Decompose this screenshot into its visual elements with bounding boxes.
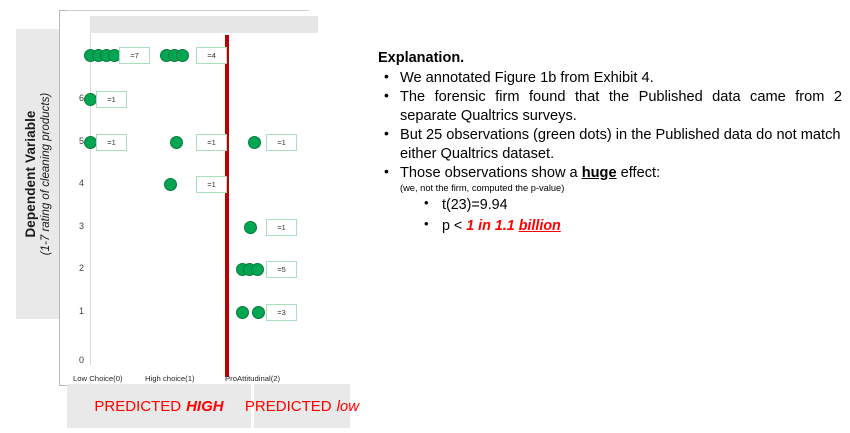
explanation-bullet-4: Those observations show a huge effect: — [378, 164, 842, 182]
statistic-p-value-emphasis: 1 in 1.1 billion — [466, 218, 561, 234]
explanation-heading: Explanation. — [378, 50, 842, 66]
count-label: =1 — [266, 134, 297, 151]
count-label: =1 — [266, 219, 297, 236]
count-label: =1 — [96, 134, 127, 151]
statistic-t-value: t(23)=9.94 — [416, 196, 842, 215]
x-tick-high-choice: High choice(1) — [145, 374, 195, 383]
explanation-bullet-1-text: We annotated Figure 1b from Exhibit 4. — [400, 70, 654, 86]
count-label: =3 — [266, 304, 297, 321]
statistics-list: t(23)=9.94 p < 1 in 1.1 billion — [378, 196, 842, 235]
y-axis-title: Dependent Variable (1-7 rating of cleani… — [16, 29, 60, 319]
chart-title-mask — [90, 16, 318, 33]
explanation-panel: Explanation. We annotated Figure 1b from… — [378, 50, 842, 238]
data-point — [176, 49, 189, 62]
explanation-bullet-4-post: effect: — [617, 165, 661, 181]
explanation-bullet-2: The forensic firm found that the Publish… — [378, 88, 842, 125]
y-axis-title-sub: (1-7 rating of cleaning products) — [40, 93, 53, 255]
count-label: =4 — [196, 47, 227, 64]
data-point — [248, 136, 261, 149]
y-tick-2: 2 — [62, 263, 84, 273]
statistic-p-value-underlined: billion — [519, 218, 561, 234]
predicted-low-emphasis: low — [337, 398, 360, 415]
count-label: =1 — [196, 176, 227, 193]
data-point — [236, 306, 249, 319]
predicted-low-banner: PREDICTED low — [254, 384, 350, 428]
prediction-divider-line — [225, 35, 229, 377]
y-tick-0: 0 — [62, 355, 84, 365]
statistic-p-value-a: 1 in 1.1 — [466, 218, 518, 234]
explanation-bullet-3: But 25 observations (green dots) in the … — [378, 126, 842, 163]
statistic-p-value-prefix: p < — [442, 218, 466, 234]
count-label: =5 — [266, 261, 297, 278]
explanation-bullet-1: We annotated Figure 1b from Exhibit 4. — [378, 69, 842, 87]
plot-top-border — [59, 10, 309, 11]
y-tick-1: 1 — [62, 306, 84, 316]
predicted-low-text: PREDICTED — [245, 398, 332, 415]
explanation-bullet-list: We annotated Figure 1b from Exhibit 4. T… — [378, 69, 842, 182]
pvalue-note: (we, not the firm, computed the p-value) — [400, 183, 842, 194]
data-point — [252, 306, 265, 319]
data-point — [251, 263, 264, 276]
plot-left-border — [59, 10, 62, 385]
count-label: =1 — [96, 91, 127, 108]
y-tick-4: 4 — [62, 178, 84, 188]
statistic-t-value-text: t(23)=9.94 — [442, 197, 508, 213]
predicted-high-text: PREDICTED — [94, 398, 181, 415]
count-label: =1 — [196, 134, 227, 151]
explanation-bullet-4-emphasis: huge — [582, 165, 617, 181]
explanation-bullet-3-text: But 25 observations (green dots) in the … — [400, 127, 841, 161]
data-point — [244, 221, 257, 234]
predicted-high-emphasis: HIGH — [186, 398, 224, 415]
count-label: =7 — [119, 47, 150, 64]
chart-panel: Dependent Variable (1-7 rating of cleani… — [0, 0, 370, 433]
x-tick-low-choice: Low Choice(0) — [73, 374, 123, 383]
data-point — [170, 136, 183, 149]
data-point — [164, 178, 177, 191]
explanation-bullet-4-pre: Those observations show a — [400, 165, 582, 181]
predicted-high-banner: PREDICTED HIGH — [67, 384, 251, 428]
statistic-p-value: p < 1 in 1.1 billion — [416, 217, 842, 236]
y-tick-5: 5 — [62, 136, 84, 146]
y-axis-title-main: Dependent Variable — [23, 110, 39, 237]
explanation-bullet-2-text: The forensic firm found that the Publish… — [400, 89, 842, 123]
y-tick-3: 3 — [62, 221, 84, 231]
plot-gridline — [90, 16, 91, 365]
x-tick-proattitudinal: ProAttitudinal(2) — [225, 374, 280, 383]
y-tick-6: 6 — [62, 93, 84, 103]
